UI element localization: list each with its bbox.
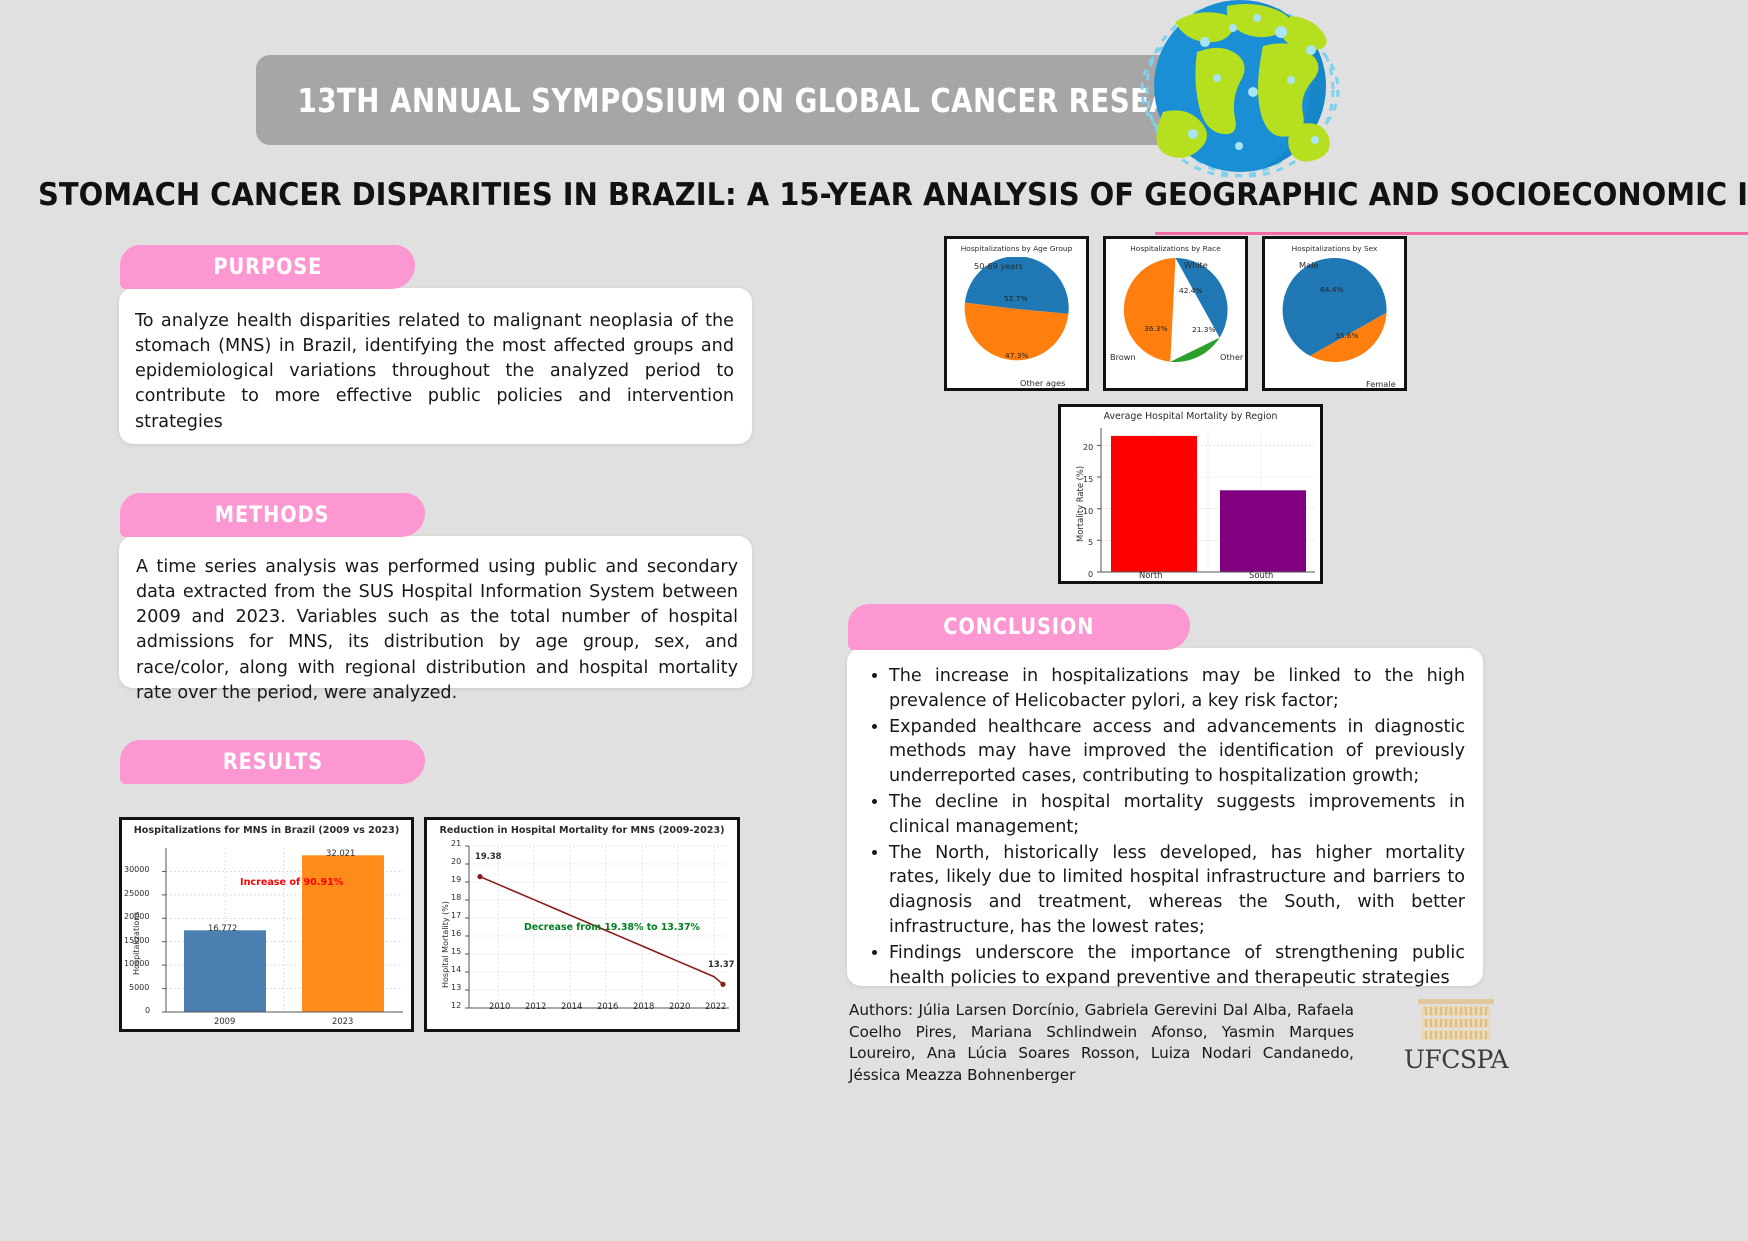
- tab-conclusion-label: CONCLUSION: [943, 615, 1094, 640]
- purpose-card: To analyze health disparities related to…: [119, 288, 752, 444]
- line-xtick-2010: 2010: [489, 1001, 510, 1011]
- pie-race-value-2: 21.3%: [1192, 325, 1215, 334]
- tab-results-label: RESULTS: [222, 750, 322, 775]
- figure-pie-race: Hospitalizations by Race White 42.4% 36.…: [1103, 236, 1248, 391]
- conclusion-card: The increase in hospitalizations may be …: [847, 648, 1483, 986]
- page-title: STOMACH CANCER DISPARITIES IN BRAZIL: A …: [38, 177, 1609, 213]
- figure-mortality-line: Reduction in Hospital Mortality for MNS …: [424, 817, 740, 1032]
- line-ytick-15: 15: [451, 947, 461, 956]
- globe-icon: [1105, 0, 1375, 190]
- point-label-end: 13.37: [708, 959, 735, 969]
- purpose-body: To analyze health disparities related to…: [119, 288, 752, 435]
- pie-race-label-1: Brown: [1110, 352, 1136, 362]
- methods-card: A time series analysis was performed usi…: [119, 536, 752, 688]
- line-xtick-2022: 2022: [705, 1001, 726, 1011]
- figure-pie-sex: Hospitalizations by Sex Male 64.4% 35.6%…: [1262, 236, 1407, 391]
- pie-sex-label-1: Female: [1366, 379, 1396, 389]
- ylabel-mortality-rate: Mortality Rate (%): [1075, 466, 1085, 542]
- tab-methods: METHODS: [120, 493, 425, 537]
- ytick-25000: 25000: [124, 889, 149, 898]
- chart-title-hospitalizations: Hospitalizations for MNS in Brazil (2009…: [122, 825, 411, 836]
- pie-sex-value-0: 64.4%: [1320, 285, 1343, 294]
- line-ytick-21: 21: [451, 839, 461, 848]
- tab-results: RESULTS: [120, 740, 425, 784]
- figure-pie-age-group: Hospitalizations by Age Group 50-69 year…: [944, 236, 1089, 391]
- line-xtick-2012: 2012: [525, 1001, 546, 1011]
- xtick-2009: 2009: [214, 1016, 235, 1026]
- pie-age-label-0: 50-69 years: [974, 261, 1023, 271]
- point-label-start: 19.38: [475, 851, 502, 861]
- line-ytick-13: 13: [451, 983, 461, 992]
- figure-region-mortality-bar: Average Hospital Mortality by Region: [1058, 404, 1323, 584]
- pie-age-label-1: Other ages: [1020, 378, 1065, 388]
- pie-age-value-0: 52.7%: [1004, 294, 1027, 303]
- chart-title-pie-age: Hospitalizations by Age Group: [947, 244, 1086, 253]
- figure-hospitalizations-bar: Hospitalizations for MNS in Brazil (2009…: [119, 817, 414, 1032]
- chart-title-mortality-line: Reduction in Hospital Mortality for MNS …: [427, 825, 737, 836]
- region-ytick-5: 5: [1088, 538, 1093, 547]
- ufcspa-logo-text: UFCSPA: [1401, 1045, 1511, 1074]
- list-item: Expanded healthcare access and advanceme…: [889, 715, 1465, 789]
- chart-title-pie-race: Hospitalizations by Race: [1106, 244, 1245, 253]
- pie-age-value-1: 47.3%: [1005, 351, 1028, 360]
- xtick-2023: 2023: [332, 1016, 353, 1026]
- tab-methods-label: METHODS: [215, 503, 330, 528]
- ytick-30000: 30000: [124, 865, 149, 874]
- tab-purpose-label: PURPOSE: [213, 255, 322, 280]
- ylabel-hospital-mortality: Hospital Mortality (%): [441, 901, 450, 988]
- tab-conclusion: CONCLUSION: [848, 604, 1190, 650]
- chart-annotation-decrease: Decrease from 19.38% to 13.37%: [524, 922, 700, 933]
- line-ytick-17: 17: [451, 911, 461, 920]
- ytick-5000: 5000: [129, 983, 149, 992]
- methods-body: A time series analysis was performed usi…: [119, 536, 752, 706]
- ylabel-hospitalizations: Hospitalizations: [132, 912, 141, 975]
- tab-purpose: PURPOSE: [120, 245, 415, 289]
- line-ytick-12: 12: [451, 1001, 461, 1010]
- bar-value-2023: 32.021: [326, 848, 355, 858]
- line-ytick-16: 16: [451, 929, 461, 938]
- title-underline-rule: [1155, 232, 1748, 235]
- list-item: The decline in hospital mortality sugges…: [889, 790, 1465, 840]
- line-xtick-2014: 2014: [561, 1001, 582, 1011]
- authors-block: Authors: Júlia Larsen Dorcínio, Gabriela…: [849, 1000, 1354, 1086]
- list-item: The increase in hospitalizations may be …: [889, 664, 1465, 714]
- region-xtick-south: South: [1249, 570, 1273, 580]
- pie-sex-value-1: 35.6%: [1335, 331, 1358, 340]
- pie-race-value-0: 42.4%: [1179, 286, 1202, 295]
- line-ytick-20: 20: [451, 857, 461, 866]
- symposium-title: 13TH ANNUAL SYMPOSIUM ON GLOBAL CANCER R…: [297, 81, 1237, 120]
- region-xtick-north: North: [1139, 570, 1162, 580]
- line-ytick-18: 18: [451, 893, 461, 902]
- chart-title-pie-sex: Hospitalizations by Sex: [1265, 244, 1404, 253]
- ufcspa-logo: UFCSPA: [1401, 995, 1511, 1071]
- pie-race-label-2: Other: [1220, 352, 1243, 362]
- bar-value-2009: 16.772: [208, 923, 237, 933]
- poster-canvas: 13TH ANNUAL SYMPOSIUM ON GLOBAL CANCER R…: [0, 0, 1748, 1241]
- list-item: The North, historically less developed, …: [889, 841, 1465, 940]
- list-item: Findings underscore the importance of st…: [889, 941, 1465, 991]
- line-xtick-2016: 2016: [597, 1001, 618, 1011]
- line-ytick-14: 14: [451, 965, 461, 974]
- ytick-0: 0: [145, 1006, 150, 1015]
- chart-annotation-increase: Increase of 90.91%: [240, 877, 343, 888]
- line-ytick-19: 19: [451, 875, 461, 884]
- line-xtick-2018: 2018: [633, 1001, 654, 1011]
- region-ytick-0: 0: [1088, 570, 1093, 579]
- pie-race-label-0: White: [1184, 260, 1208, 270]
- line-xtick-2020: 2020: [669, 1001, 690, 1011]
- pie-sex-label-0: Male: [1299, 260, 1318, 270]
- chart-title-region-mortality: Average Hospital Mortality by Region: [1061, 411, 1320, 422]
- region-ytick-20: 20: [1083, 443, 1093, 452]
- conclusion-bullet-list: The increase in hospitalizations may be …: [847, 648, 1483, 990]
- pie-race-value-1: 36.3%: [1144, 324, 1167, 333]
